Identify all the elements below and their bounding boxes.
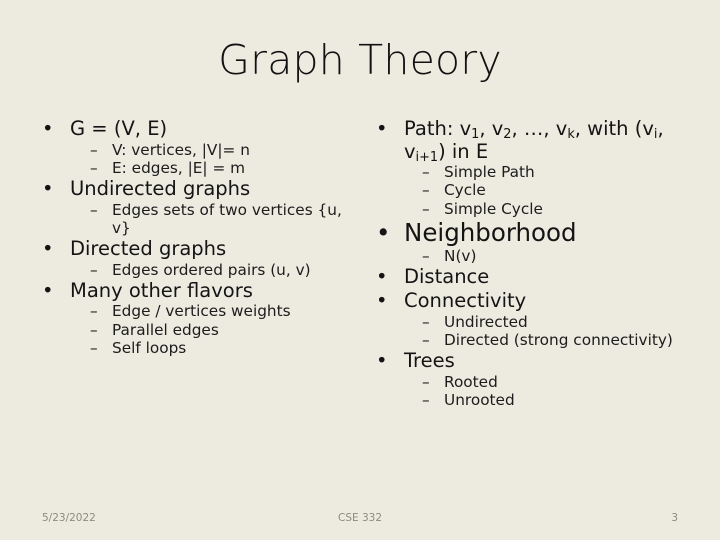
right-bullet: •Connectivity–Undirected–Directed (stron… [368,290,698,349]
bullet-dot-icon: • [376,118,388,141]
right-sub-bullet-label: Simple Path [444,163,535,181]
left-sub-bullet-list: –Edges ordered pairs (u, v) [34,261,354,279]
left-sub-bullet-list: –Edges sets of two vertices {u, v} [34,201,354,237]
left-sub-bullet-label: Parallel edges [112,321,219,339]
left-sub-bullet-label: Edges ordered pairs (u, v) [112,261,311,279]
right-bullet: •Distance [368,266,698,289]
left-sub-bullet: –V: vertices, |V|= n [80,141,354,159]
right-sub-bullet-list: –Simple Path–Cycle–Simple Cycle [368,163,698,218]
right-sub-bullet-label: Cycle [444,181,486,199]
right-sub-bullet: –N(v) [412,247,698,265]
dash-bullet-icon: – [90,321,98,339]
right-sub-bullet-list: –Rooted–Unrooted [368,373,698,409]
right-sub-bullet-label: N(v) [444,247,476,265]
right-bullet-label: Path: v1, v2, …, vk, with (vi, vi+1) in … [404,117,664,163]
right-sub-bullet-label: Simple Cycle [444,200,543,218]
left-bullet: •G = (V, E)–V: vertices, |V|= n–E: edges… [34,118,354,177]
right-bullet: •Trees–Rooted–Unrooted [368,350,698,409]
left-sub-bullet-label: Edges sets of two vertices {u, v} [112,201,342,237]
right-sub-bullet: –Undirected [412,313,698,331]
dash-bullet-icon: – [90,159,98,177]
left-bullet-label: G = (V, E) [70,117,167,140]
left-sub-bullet: –E: edges, |E| = m [80,159,354,177]
right-bullet: •Neighborhood–N(v) [368,219,698,266]
left-content-column: •G = (V, E)–V: vertices, |V|= n–E: edges… [34,118,354,358]
right-sub-bullet-list: –Undirected–Directed (strong connectivit… [368,313,698,349]
slide: Graph Theory •G = (V, E)–V: vertices, |V… [0,0,720,540]
right-bullet-label: Connectivity [404,289,526,312]
left-sub-bullet: –Parallel edges [80,321,354,339]
dash-bullet-icon: – [422,247,430,265]
left-sub-bullet-list: –V: vertices, |V|= n–E: edges, |E| = m [34,141,354,177]
dash-bullet-icon: – [90,302,98,320]
right-sub-bullet-label: Rooted [444,373,498,391]
bullet-dot-icon: • [376,219,390,247]
right-content-column: •Path: v1, v2, …, vk, with (vi, vi+1) in… [368,118,698,410]
left-sub-bullet: –Edges ordered pairs (u, v) [80,261,354,279]
bullet-dot-icon: • [376,266,388,289]
dash-bullet-icon: – [422,331,430,349]
right-sub-bullet-label: Unrooted [444,391,515,409]
left-sub-bullet-label: V: vertices, |V|= n [112,141,250,159]
left-sub-bullet: –Edge / vertices weights [80,302,354,320]
right-bullet-label: Trees [404,349,455,372]
left-bullet-label: Undirected graphs [70,177,250,200]
dash-bullet-icon: – [422,391,430,409]
bullet-dot-icon: • [42,178,54,201]
dash-bullet-icon: – [90,141,98,159]
left-bullet-label: Many other flavors [70,279,253,302]
bullet-dot-icon: • [376,290,388,313]
right-sub-bullet: –Simple Path [412,163,698,181]
dash-bullet-icon: – [422,313,430,331]
left-bullet-list: •G = (V, E)–V: vertices, |V|= n–E: edges… [34,118,354,357]
footer-page-number: 3 [671,512,678,524]
right-sub-bullet-label: Directed (strong connectivity) [444,331,673,349]
right-bullet: •Path: v1, v2, …, vk, with (vi, vi+1) in… [368,118,698,218]
dash-bullet-icon: – [422,163,430,181]
right-sub-bullet-list: –N(v) [368,247,698,265]
slide-title: Graph Theory [0,38,720,83]
left-sub-bullet-label: Self loops [112,339,186,357]
dash-bullet-icon: – [422,373,430,391]
right-sub-bullet: –Rooted [412,373,698,391]
bullet-dot-icon: • [42,118,54,141]
footer-course: CSE 332 [0,512,720,524]
slide-footer: 5/23/2022 CSE 332 3 [0,500,720,540]
dash-bullet-icon: – [422,200,430,218]
bullet-dot-icon: • [42,280,54,303]
right-sub-bullet: –Unrooted [412,391,698,409]
left-sub-bullet-label: Edge / vertices weights [112,302,291,320]
left-sub-bullet-list: –Edge / vertices weights–Parallel edges–… [34,302,354,357]
dash-bullet-icon: – [422,181,430,199]
left-sub-bullet: –Self loops [80,339,354,357]
bullet-dot-icon: • [42,238,54,261]
right-sub-bullet: –Directed (strong connectivity) [412,331,698,349]
left-sub-bullet-label: E: edges, |E| = m [112,159,245,177]
left-bullet: •Directed graphs–Edges ordered pairs (u,… [34,238,354,279]
dash-bullet-icon: – [90,261,98,279]
right-bullet-label: Neighborhood [404,218,577,247]
right-bullet-label: Distance [404,265,489,288]
dash-bullet-icon: – [90,339,98,357]
left-bullet: •Many other flavors–Edge / vertices weig… [34,280,354,357]
right-bullet-list: •Path: v1, v2, …, vk, with (vi, vi+1) in… [368,118,698,409]
left-bullet: •Undirected graphs–Edges sets of two ver… [34,178,354,237]
right-sub-bullet: –Simple Cycle [412,200,698,218]
dash-bullet-icon: – [90,201,98,219]
right-sub-bullet-label: Undirected [444,313,528,331]
bullet-dot-icon: • [376,350,388,373]
right-sub-bullet: –Cycle [412,181,698,199]
left-bullet-label: Directed graphs [70,237,226,260]
left-sub-bullet: –Edges sets of two vertices {u, v} [80,201,354,237]
